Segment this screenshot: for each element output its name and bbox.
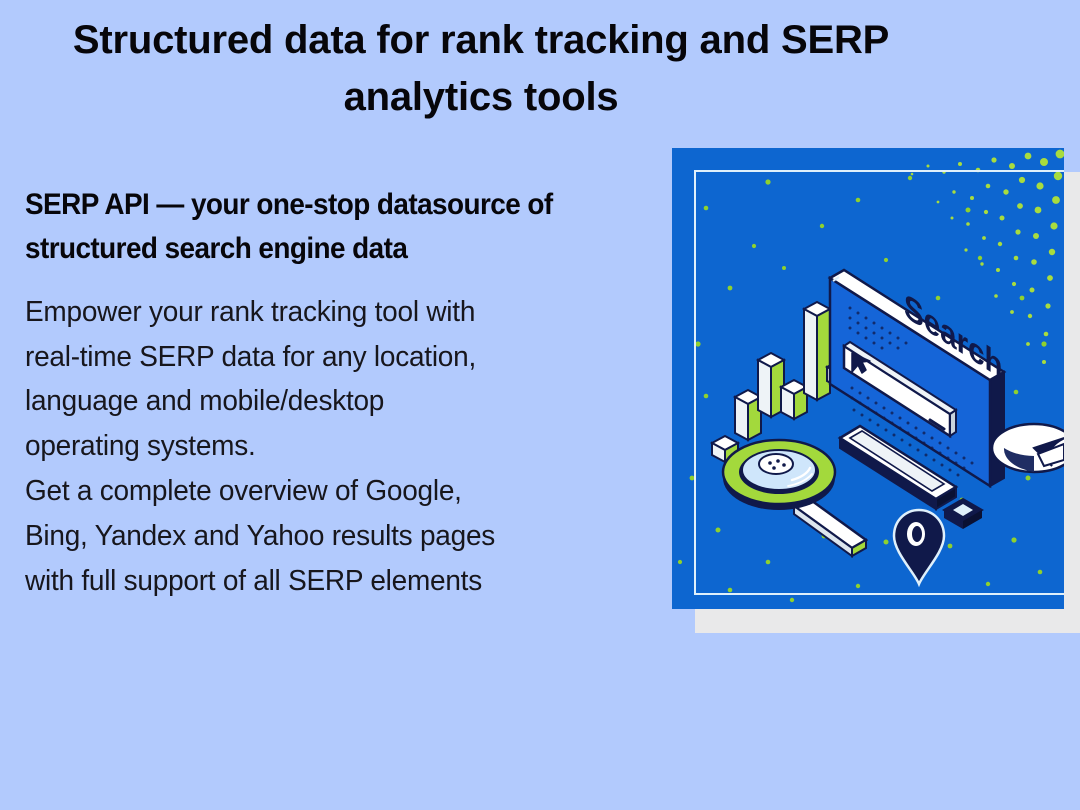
body-paragraph-1: Empower your rank tracking tool with rea…	[25, 290, 633, 469]
location-pin	[894, 510, 944, 584]
body-paragraph-2: Get a complete overview of Google, Bing,…	[25, 469, 633, 603]
bar-5	[804, 302, 830, 400]
illustration: Search	[672, 148, 1064, 609]
lead-heading: SERP API — your one-stop datasource of s…	[25, 183, 611, 272]
illustration-artwork: Search	[672, 148, 1064, 609]
text-column: SERP API — your one-stop datasource of s…	[25, 183, 655, 603]
iso-square-center	[944, 499, 982, 529]
magnifier	[723, 440, 866, 556]
page-title: Structured data for rank tracking and SE…	[36, 12, 926, 126]
illustration-panel: Search	[672, 148, 1064, 609]
pie-chart	[992, 424, 1064, 472]
